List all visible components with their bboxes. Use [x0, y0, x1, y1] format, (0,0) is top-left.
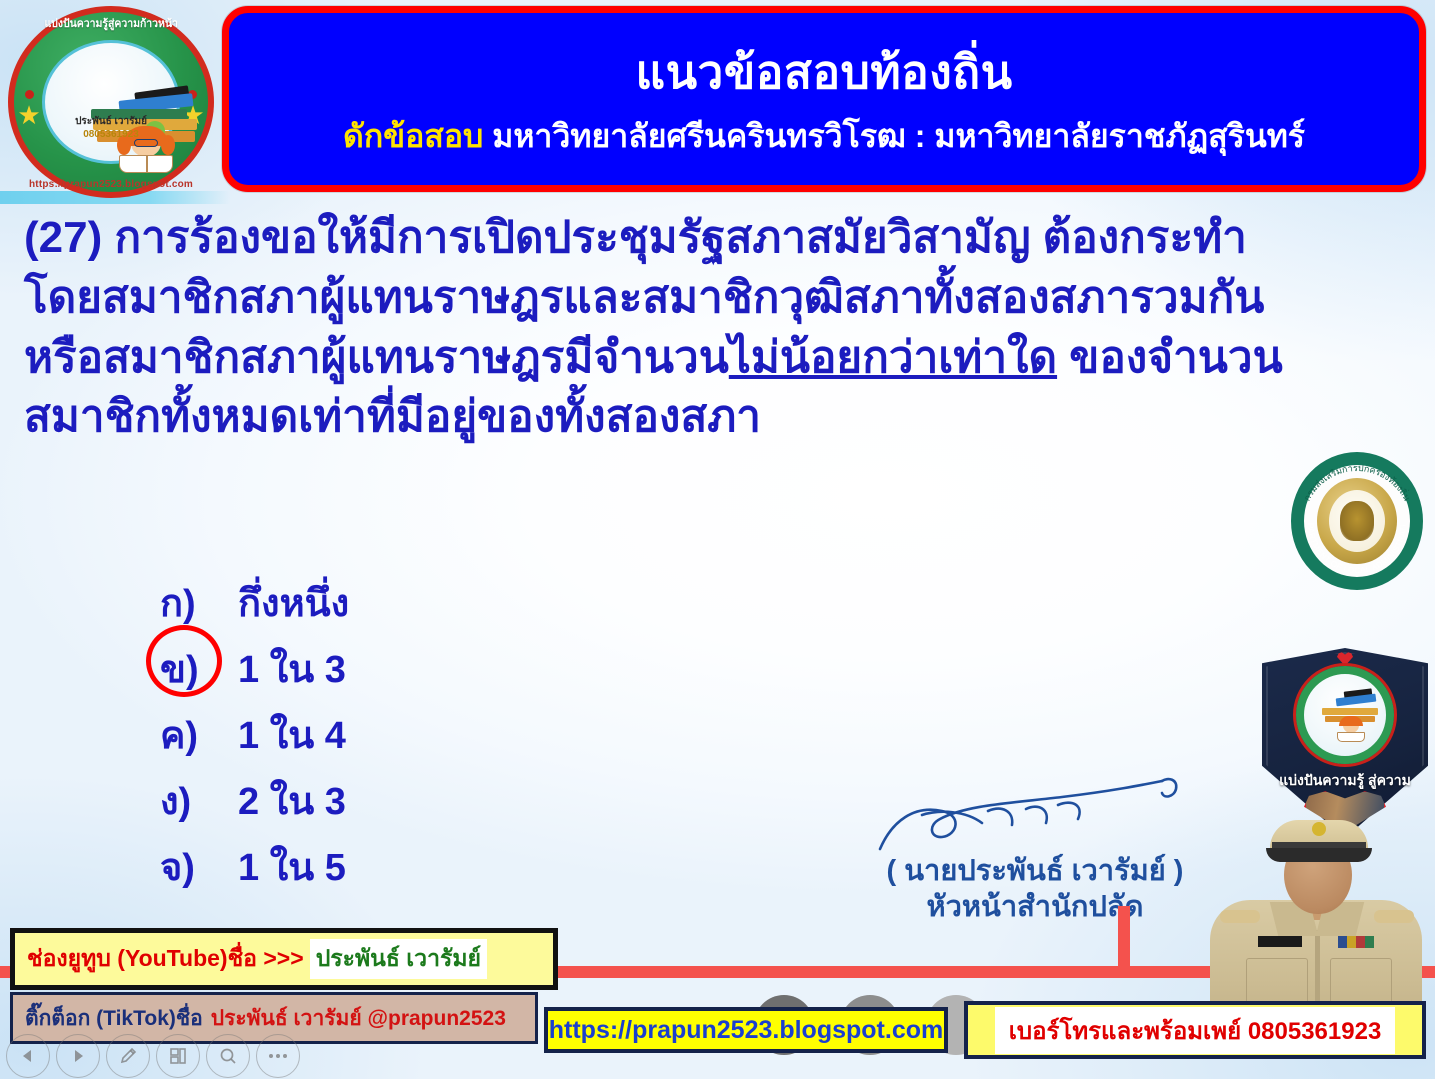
logo-motto-text: แบ่งปันความรู้สู่ความก้าวหน้า [44, 14, 177, 32]
slide-header-banner: แนวข้อสอบท้องถิ่น ดักข้อสอบ มหาวิทยาลัยศ… [222, 6, 1426, 192]
page-title: แนวข้อสอบท้องถิ่น [635, 48, 1012, 96]
header-subtitle-highlight: ดักข้อสอบ [343, 118, 483, 154]
phone-number-banner[interactable]: เบอร์โทรและพร้อมเพย์ 0805361923 [964, 1001, 1426, 1059]
logo-phone: 0805361923 [45, 129, 177, 140]
question-line-4: สมาชิกทั้งหมดเท่าที่มีอยู่ของทั้งสองสภา [24, 387, 1414, 447]
department-of-local-administration-seal-icon: กรมส่งเสริมการปกครองท้องถิ่น DEPARTMENT … [1291, 452, 1423, 590]
brand-logo: แบ่งปันความรู้สู่ความก้าวหน้า ★ ★ [8, 6, 214, 198]
mini-book-yellow [1322, 708, 1378, 715]
logo-dot-left [25, 90, 34, 99]
next-slide-icon[interactable] [56, 1034, 100, 1078]
phone-inner-box: เบอร์โทรและพร้อมเพย์ 0805361923 [995, 1007, 1396, 1054]
epaulette-right [1374, 910, 1414, 923]
option-key: ก) [160, 572, 238, 633]
logo-owner-name: ประพันธ์ เวารัมย์ [45, 114, 177, 129]
shirt-pocket-right [1330, 958, 1392, 1006]
signature-name: ( นายประพันธ์ เวารัมย์ ) [840, 853, 1230, 889]
option-label: กึ่งหนึ่ง [238, 572, 349, 633]
question-line-3-after: ของจำนวน [1057, 333, 1283, 382]
question-line-2: โดยสมาชิกสภาผู้แทนราษฎรและสมาชิกวุฒิสภาท… [24, 268, 1414, 328]
answer-option-ka[interactable]: ก) กึ่งหนึ่ง [160, 572, 680, 638]
handwritten-signature-icon [840, 775, 1230, 853]
question-line-3: หรือสมาชิกสภาผู้แทนราษฎรมีจำนวนไม่น้อยกว… [24, 328, 1414, 388]
blog-url-banner[interactable]: https://prapun2523.blogspot.com [544, 1007, 948, 1053]
logo-url: https://prapun2523.blogspot.com [8, 179, 214, 190]
option-key-circled: ข) [160, 638, 238, 699]
shirt-pocket-left [1246, 958, 1308, 1006]
author-photo [1196, 818, 1435, 1018]
question-line-1: (27) การร้องขอให้มีการเปิดประชุมรัฐสภาสม… [24, 208, 1414, 268]
option-label: 2 ใน 3 [238, 770, 346, 831]
option-label: 1 ใน 4 [238, 704, 346, 765]
signature-role: หัวหน้าสำนักปลัด [840, 889, 1230, 925]
option-label: 1 ใน 3 [238, 638, 346, 699]
tiktok-account-name: ประพันธ์ เวารัมย์ @prapun2523 [211, 1002, 506, 1035]
answer-options-list: ก) กึ่งหนึ่ง ข) 1 ใน 3 ค) 1 ใน 4 ง) 2 ใน… [160, 572, 680, 902]
svg-text:กรมส่งเสริมการปกครองท้องถิ่น: กรมส่งเสริมการปกครองท้องถิ่น [1302, 463, 1412, 503]
open-book-icon [119, 155, 173, 173]
tiktok-label: ติ๊กต็อก (TikTok)ชื่อ [25, 1002, 203, 1035]
mini-open-book [1337, 732, 1365, 742]
name-tag [1258, 936, 1302, 947]
cap-brim [1266, 848, 1372, 862]
shield-mini-logo [1296, 666, 1394, 764]
red-accent-notch [1118, 906, 1130, 972]
previous-slide-icon[interactable] [6, 1034, 50, 1078]
cap-badge-icon [1312, 822, 1326, 836]
header-subtitle-rest: มหาวิทยาลัยศรีนครินทรวิโรฒ : มหาวิทยาลัย… [483, 118, 1305, 154]
epaulette-left [1220, 910, 1260, 923]
option-key: ค) [160, 704, 238, 765]
answer-option-kho2[interactable]: ค) 1 ใน 4 [160, 704, 680, 770]
option-label: 1 ใน 5 [238, 836, 346, 897]
mini-hair [1339, 716, 1363, 726]
pen-icon[interactable] [106, 1034, 150, 1078]
answer-option-cho[interactable]: จ) 1 ใน 5 [160, 836, 680, 902]
presentation-navigation-toolbar[interactable] [6, 1034, 300, 1078]
question-emphasis: ไม่น้อยกว่าเท่าใด [729, 333, 1057, 382]
signature-block: ( นายประพันธ์ เวารัมย์ ) หัวหน้าสำนักปลั… [840, 775, 1230, 926]
more-options-icon[interactable] [256, 1034, 300, 1078]
mini-student-icon [1336, 718, 1366, 744]
question-line-3-before: หรือสมาชิกสภาผู้แทนราษฎรมีจำนวน [24, 333, 729, 382]
youtube-channel-banner[interactable]: ช่องยูทูบ (YouTube)ชื่อ >>> ประพันธ์ เวา… [10, 928, 558, 990]
answer-option-ngo[interactable]: ง) 2 ใน 3 [160, 770, 680, 836]
youtube-label: ช่องยูทูบ (YouTube)ชื่อ >>> [27, 941, 304, 977]
answer-option-kho[interactable]: ข) 1 ใน 3 [160, 638, 680, 704]
service-ribbon [1338, 936, 1374, 948]
zoom-icon[interactable] [206, 1034, 250, 1078]
option-key: จ) [160, 836, 238, 897]
blog-url-text: https://prapun2523.blogspot.com [549, 1016, 943, 1045]
presentation-slide: แบ่งปันความรู้สู่ความก้าวหน้า ★ ★ [0, 0, 1435, 1079]
phone-number-text: เบอร์โทรและพร้อมเพย์ 0805361923 [1009, 1018, 1382, 1045]
slide-grid-icon[interactable] [156, 1034, 200, 1078]
youtube-channel-name: ประพันธ์ เวารัมย์ [310, 939, 487, 979]
shield-badge: แบ่งปันความรู้ สู่ความก้าวหน้า [1262, 648, 1428, 838]
glasses-icon [134, 139, 158, 147]
mini-book-blue [1336, 694, 1377, 707]
seal-ring-text: กรมส่งเสริมการปกครองท้องถิ่น DEPARTMENT … [1291, 452, 1423, 590]
option-key: ง) [160, 770, 238, 831]
star-icon-left: ★ [16, 102, 42, 128]
question-text: (27) การร้องขอให้มีการเปิดประชุมรัฐสภาสม… [24, 208, 1414, 447]
logo-inner-disc: ประพันธ์ เวารัมย์ 0805361923 [42, 40, 180, 164]
header-subtitle: ดักข้อสอบ มหาวิทยาลัยศรีนครินทรวิโรฒ : ม… [343, 119, 1305, 154]
